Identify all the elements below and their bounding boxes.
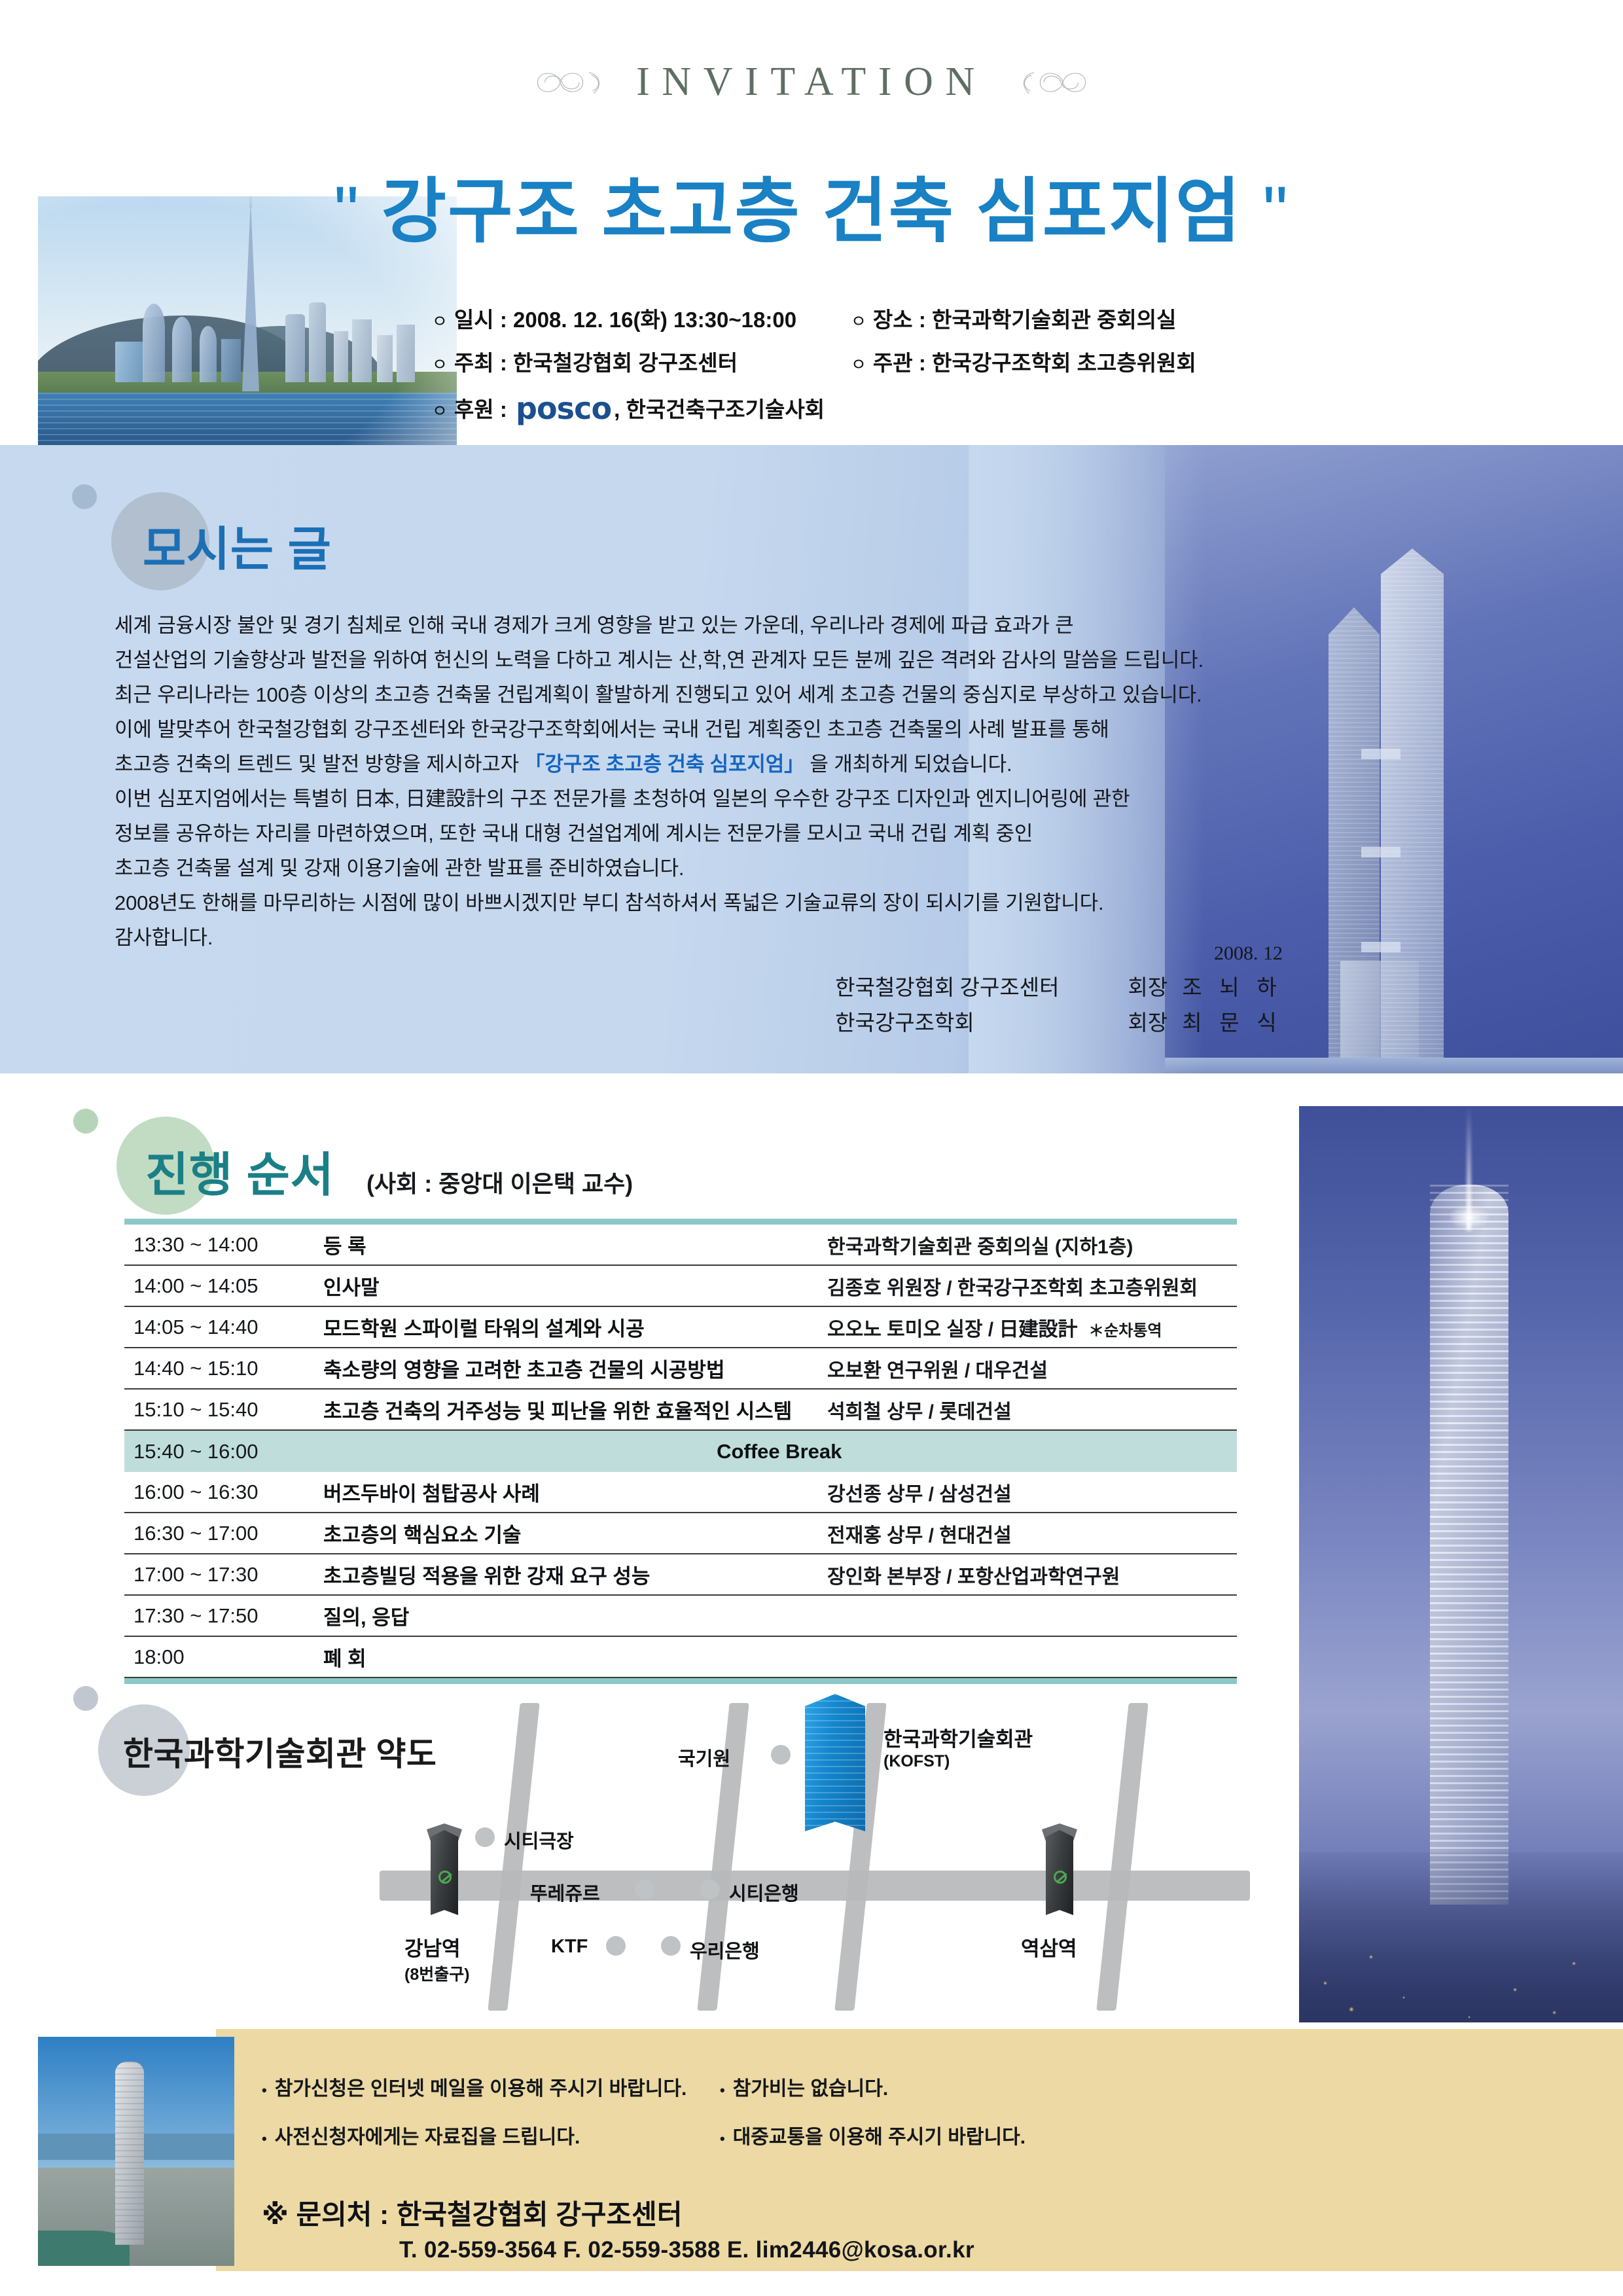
greeting-paragraph: 최근 우리나라는 100층 이상의 초고층 건축물 건립계획이 활발하게 진행되… bbox=[115, 685, 1227, 705]
bullet-icon: • bbox=[720, 2130, 725, 2147]
greeting-paragraph-highlight: 초고층 건축의 트렌드 및 발전 방향을 제시하고자 「강구조 초고층 건축 심… bbox=[115, 754, 1227, 774]
map-label-city-theater: 시티극장 bbox=[504, 1826, 574, 1854]
row-topic: 질의, 응답 bbox=[323, 1601, 827, 1630]
meta-date: ㅇ 일시 : 2008. 12. 16(화) 13:30~18:00 bbox=[432, 302, 851, 334]
map-label-woori-bank: 우리은행 bbox=[690, 1936, 760, 1964]
table-row: 16:00 ~ 16:30 버즈두바이 첨탑공사 사례 강선종 상무 / 삼성건… bbox=[124, 1472, 1237, 1513]
poi-tous-les-jours-icon bbox=[635, 1880, 654, 1899]
map-road-vertical bbox=[488, 1703, 539, 2011]
invitation-label: INVITATION bbox=[636, 59, 987, 105]
map-canvas: 한국과학기술회관 (KOFST) 국기원 시티극장 뚜레쥬르 시티은행 강남역 … bbox=[347, 1689, 1276, 2029]
table-row: 15:10 ~ 15:40 초고층 건축의 거주성능 및 피난을 위한 효율적인… bbox=[124, 1390, 1237, 1431]
greeting-paragraph: 이번 심포지엄에서는 특별히 日本, 日建設計의 구조 전문가를 초청하여 일본… bbox=[115, 789, 1227, 809]
map-label-kukkiwon: 국기원 bbox=[678, 1744, 730, 1771]
meta-host-value: 한국철강협회 강구조센터 bbox=[513, 346, 738, 377]
meta-row-3: ㅇ 후원 : posco , 한국건축구조기술사회 bbox=[432, 389, 1531, 424]
poi-city-theater-icon bbox=[475, 1827, 495, 1847]
footer-section: • 참가신청은 인터넷 메일을 이용해 주시기 바랍니다. • 참가비는 없습니… bbox=[0, 2029, 1623, 2296]
signature-role: 회장 bbox=[1111, 1005, 1168, 1037]
poi-ktf-icon bbox=[606, 1936, 626, 1956]
row-time: 14:00 ~ 14:05 bbox=[134, 1274, 323, 1298]
map-label-venue: 한국과학기술회관 (KOFST) bbox=[883, 1723, 1033, 1771]
meta-organizer-label: 주관 bbox=[873, 346, 913, 377]
meta-row-2: ㅇ 주최 : 한국철강협회 강구조센터 ㅇ 주관 : 한국강구조학회 초고층위원… bbox=[432, 346, 1531, 377]
event-meta: ㅇ 일시 : 2008. 12. 16(화) 13:30~18:00 ㅇ 장소 … bbox=[432, 302, 1531, 436]
title-close-quote: " bbox=[1263, 171, 1290, 251]
row-topic: 등 록 bbox=[323, 1230, 827, 1259]
notes-row: • 사전신청자에게는 자료집을 드립니다. • 대중교통을 이용해 주시기 바랍… bbox=[262, 2121, 1283, 2149]
page-title: " 강구조 초고층 건축 심포지엄 " bbox=[0, 154, 1623, 257]
signature-role: 회장 bbox=[1111, 970, 1168, 1001]
greeting-paragraph: 세계 금융시장 불안 및 경기 침체로 인해 국내 경제가 크게 영향을 받고 … bbox=[115, 615, 1227, 636]
table-row: 17:00 ~ 17:30 초고층빌딩 적용을 위한 강재 요구 성능 장인화 … bbox=[124, 1554, 1237, 1596]
notes-row: • 참가신청은 인터넷 메일을 이용해 주시기 바랍니다. • 참가비는 없습니… bbox=[262, 2072, 1283, 2101]
row-speaker: 강선종 상무 / 삼성건설 bbox=[827, 1478, 1237, 1507]
row-topic: Coffee Break bbox=[322, 1440, 1237, 1463]
contact-line: T. 02-559-3564 F. 02-559-3588 E. lim2446… bbox=[399, 2237, 974, 2263]
row-time: 16:00 ~ 16:30 bbox=[134, 1480, 323, 1504]
bullet-icon: • bbox=[720, 2082, 725, 2099]
row-speaker: 오보환 연구위원 / 대우건설 bbox=[827, 1354, 1237, 1383]
row-time: 18:00 bbox=[134, 1645, 323, 1669]
row-time: 16:30 ~ 17:00 bbox=[134, 1522, 323, 1545]
meta-organizer-value: 한국강구조학회 초고층위원회 bbox=[932, 346, 1196, 377]
note-item: • 참가신청은 인터넷 메일을 이용해 주시기 바랍니다. bbox=[262, 2072, 720, 2101]
decorative-dot bbox=[73, 1109, 98, 1134]
flourish-ornament-right bbox=[1017, 63, 1090, 102]
signature-row: 한국강구조학회 회장 최 문 식 bbox=[835, 1005, 1283, 1037]
meta-date-value: 2008. 12. 16(화) 13:30~18:00 bbox=[513, 302, 796, 334]
highlight-suffix: 을 개최하게 되었습니다. bbox=[804, 753, 1012, 776]
meta-venue-label: 장소 bbox=[873, 302, 913, 334]
contact-heading: ※ 문의처 : 한국철강협회 강구조센터 bbox=[262, 2193, 682, 2233]
meta-row-1: ㅇ 일시 : 2008. 12. 16(화) 13:30~18:00 ㅇ 장소 … bbox=[432, 302, 1531, 334]
meta-date-label: 일시 bbox=[454, 302, 494, 334]
header-section: INVITATION " 강구조 초고층 건축 심포지엄 " ㅇ bbox=[0, 0, 1623, 445]
table-top-rule bbox=[124, 1219, 1237, 1225]
row-time: 15:40 ~ 16:00 bbox=[134, 1440, 322, 1463]
row-speaker: 한국과학기술회관 중회의실 (지하1층) bbox=[827, 1230, 1237, 1259]
meta-sponsor-label: 후원 bbox=[454, 392, 494, 423]
location-map: 한국과학기술회관 (KOFST) 국기원 시티극장 뚜레쥬르 시티은행 강남역 … bbox=[98, 1676, 1276, 2029]
table-row: 14:05 ~ 14:40 모드학원 스파이럴 타워의 설계와 시공 오오노 토… bbox=[124, 1307, 1237, 1348]
row-time: 15:10 ~ 15:40 bbox=[134, 1398, 323, 1422]
table-row: 18:00 폐 회 bbox=[124, 1637, 1237, 1678]
highlight-prefix: 초고층 건축의 트렌드 및 발전 방향을 제시하고자 bbox=[115, 753, 525, 776]
bullet-icon: • bbox=[262, 2130, 267, 2147]
decorative-dot bbox=[72, 484, 97, 509]
program-heading: 진행 순서 bbox=[145, 1136, 334, 1205]
signature-org: 한국철강협회 강구조센터 bbox=[835, 970, 1097, 1001]
signature-name: 최 문 식 bbox=[1182, 1005, 1283, 1037]
note-item: • 참가비는 없습니다. bbox=[720, 2072, 888, 2101]
tower-night-photo bbox=[1299, 1106, 1623, 2022]
table-row: 16:30 ~ 17:00 초고층의 핵심요소 기술 전재홍 상무 / 현대건설 bbox=[124, 1513, 1237, 1554]
row-topic: 모드학원 스파이럴 타워의 설계와 시공 bbox=[323, 1312, 827, 1342]
meta-sponsor: ㅇ 후원 : posco , 한국건축구조기술사회 bbox=[432, 389, 851, 424]
row-time: 17:00 ~ 17:30 bbox=[134, 1563, 323, 1587]
table-row: 14:00 ~ 14:05 인사말 김종호 위원장 / 한국강구조학회 초고층위… bbox=[124, 1266, 1237, 1307]
meta-venue-value: 한국과학기술회관 중회의실 bbox=[932, 302, 1177, 334]
meta-bullet-icon: ㅇ bbox=[432, 308, 448, 332]
meta-bullet-icon: ㅇ bbox=[851, 351, 866, 376]
signature-date: 2008. 12 bbox=[835, 942, 1283, 965]
meta-bullet-icon: ㅇ bbox=[432, 351, 448, 376]
bullet-icon: • bbox=[262, 2082, 267, 2099]
meta-host: ㅇ 주최 : 한국철강협회 강구조센터 bbox=[432, 346, 851, 377]
greeting-paragraph: 정보를 공유하는 자리를 마련하였으며, 또한 국내 대형 건설업계에 계시는 … bbox=[115, 823, 1227, 844]
map-label-ktf: KTF bbox=[551, 1936, 588, 1958]
program-table: 13:30 ~ 14:00 등 록 한국과학기술회관 중회의실 (지하1층) 1… bbox=[124, 1219, 1237, 1684]
row-speaker: 장인화 본부장 / 포항산업과학연구원 bbox=[827, 1560, 1237, 1589]
signature-name: 조 뇌 하 bbox=[1182, 970, 1283, 1001]
row-speaker: 김종호 위원장 / 한국강구조학회 초고층위원회 bbox=[827, 1272, 1237, 1300]
gangnam-station-pin-icon bbox=[425, 1820, 463, 1918]
flourish-ornament-left bbox=[533, 63, 606, 102]
footer-notes: • 참가신청은 인터넷 메일을 이용해 주시기 바랍니다. • 참가비는 없습니… bbox=[262, 2072, 1283, 2169]
table-row: 13:30 ~ 14:00 등 록 한국과학기술회관 중회의실 (지하1층) bbox=[124, 1225, 1237, 1266]
map-label-citibank: 시티은행 bbox=[729, 1878, 799, 1906]
poi-citibank-icon bbox=[700, 1880, 720, 1899]
table-row: 14:40 ~ 15:10 축소량의 영향을 고려한 초고층 건물의 시공방법 … bbox=[124, 1348, 1237, 1390]
map-label-gangnam-exit: (8번출구) bbox=[404, 1962, 470, 1985]
poi-woori-bank-icon bbox=[661, 1936, 681, 1956]
table-row-break: 15:40 ~ 16:00 Coffee Break bbox=[124, 1431, 1237, 1472]
row-time: 13:30 ~ 14:00 bbox=[134, 1233, 323, 1257]
row-topic: 축소량의 영향을 고려한 초고층 건물의 시공방법 bbox=[323, 1354, 827, 1383]
row-topic: 인사말 bbox=[323, 1271, 827, 1300]
map-road-vertical bbox=[1096, 1703, 1148, 2011]
decorative-dot bbox=[73, 1686, 98, 1711]
symposium-title-highlight: 「강구조 초고층 건축 심포지엄」 bbox=[525, 753, 804, 776]
row-speaker: 전재홍 상무 / 현대건설 bbox=[827, 1519, 1237, 1548]
map-label-gangnam-station: 강남역 (8번출구) bbox=[404, 1932, 470, 1985]
row-time: 17:30 ~ 17:50 bbox=[134, 1604, 323, 1628]
yeoksam-station-pin-icon bbox=[1041, 1820, 1079, 1918]
meta-sponsor-value: , 한국건축구조기술사회 bbox=[614, 392, 825, 423]
kofst-building-icon bbox=[805, 1694, 865, 1831]
row-topic: 초고층 건축의 거주성능 및 피난을 위한 효율적인 시스템 bbox=[323, 1395, 827, 1424]
greeting-paragraph: 2008년도 한해를 마무리하는 시점에 많이 바쁘시겠지만 부디 참석하셔서 … bbox=[115, 893, 1227, 913]
meta-host-label: 주최 bbox=[454, 346, 494, 377]
meta-bullet-icon: ㅇ bbox=[851, 308, 866, 332]
row-time: 14:05 ~ 14:40 bbox=[134, 1316, 323, 1339]
invitation-header: INVITATION bbox=[0, 59, 1623, 105]
row-speaker-note: ＊순차통역 bbox=[1088, 1322, 1162, 1340]
greeting-body: 세계 금융시장 불안 및 경기 침체로 인해 국내 경제가 크게 영향을 받고 … bbox=[115, 615, 1227, 962]
row-topic: 버즈두바이 첨탑공사 사례 bbox=[323, 1477, 827, 1507]
greeting-paragraph: 초고층 건축물 설계 및 강재 이용기술에 관한 발표를 준비하였습니다. bbox=[115, 858, 1227, 878]
meta-bullet-icon: ㅇ bbox=[432, 398, 448, 422]
poster-page: INVITATION " 강구조 초고층 건축 심포지엄 " ㅇ bbox=[0, 0, 1623, 2296]
signature-org: 한국강구조학회 bbox=[835, 1005, 1097, 1037]
table-row: 17:30 ~ 17:50 질의, 응답 bbox=[124, 1596, 1237, 1637]
program-moderator: (사회 : 중앙대 이은택 교수) bbox=[366, 1165, 633, 1199]
note-item: • 사전신청자에게는 자료집을 드립니다. bbox=[262, 2121, 720, 2149]
map-label-venue-sub: (KOFST) bbox=[883, 1752, 1033, 1771]
map-label-tous-les-jours: 뚜레쥬르 bbox=[530, 1878, 600, 1906]
tower-photo-footer bbox=[38, 2037, 234, 2266]
row-topic: 초고층빌딩 적용을 위한 강재 요구 성능 bbox=[323, 1560, 827, 1589]
greeting-paragraph: 건설산업의 기술향상과 발전을 위하여 헌신의 노력을 다하고 계시는 산,학,… bbox=[115, 650, 1227, 670]
row-time: 14:40 ~ 15:10 bbox=[134, 1357, 323, 1380]
note-item: • 대중교통을 이용해 주시기 바랍니다. bbox=[720, 2121, 1026, 2149]
row-topic: 폐 회 bbox=[323, 1642, 827, 1672]
map-label-yeoksam-station: 역삼역 bbox=[1021, 1932, 1077, 1962]
signature-block: 2008. 12 한국철강협회 강구조센터 회장 조 뇌 하 한국강구조학회 회… bbox=[835, 942, 1283, 1041]
row-topic: 초고층의 핵심요소 기술 bbox=[323, 1518, 827, 1548]
posco-logo: posco bbox=[516, 391, 611, 426]
title-open-quote: " bbox=[334, 171, 361, 251]
meta-venue: ㅇ 장소 : 한국과학기술회관 중회의실 bbox=[851, 302, 1176, 334]
greeting-paragraph: 이에 발맞추어 한국철강협회 강구조센터와 한국강구조학회에서는 국내 건립 계… bbox=[115, 719, 1227, 740]
poi-kukkiwon-icon bbox=[771, 1745, 791, 1765]
signature-row: 한국철강협회 강구조센터 회장 조 뇌 하 bbox=[835, 970, 1283, 1001]
meta-organizer: ㅇ 주관 : 한국강구조학회 초고층위원회 bbox=[851, 346, 1196, 377]
greeting-heading: 모시는 글 bbox=[143, 511, 332, 579]
row-speaker: 석희철 상무 / 롯데건설 bbox=[827, 1395, 1237, 1424]
row-speaker: 오오노 토미오 실장 / 日建設計 ＊순차통역 bbox=[827, 1313, 1237, 1342]
title-text: 강구조 초고층 건축 심포지엄 bbox=[382, 171, 1242, 251]
